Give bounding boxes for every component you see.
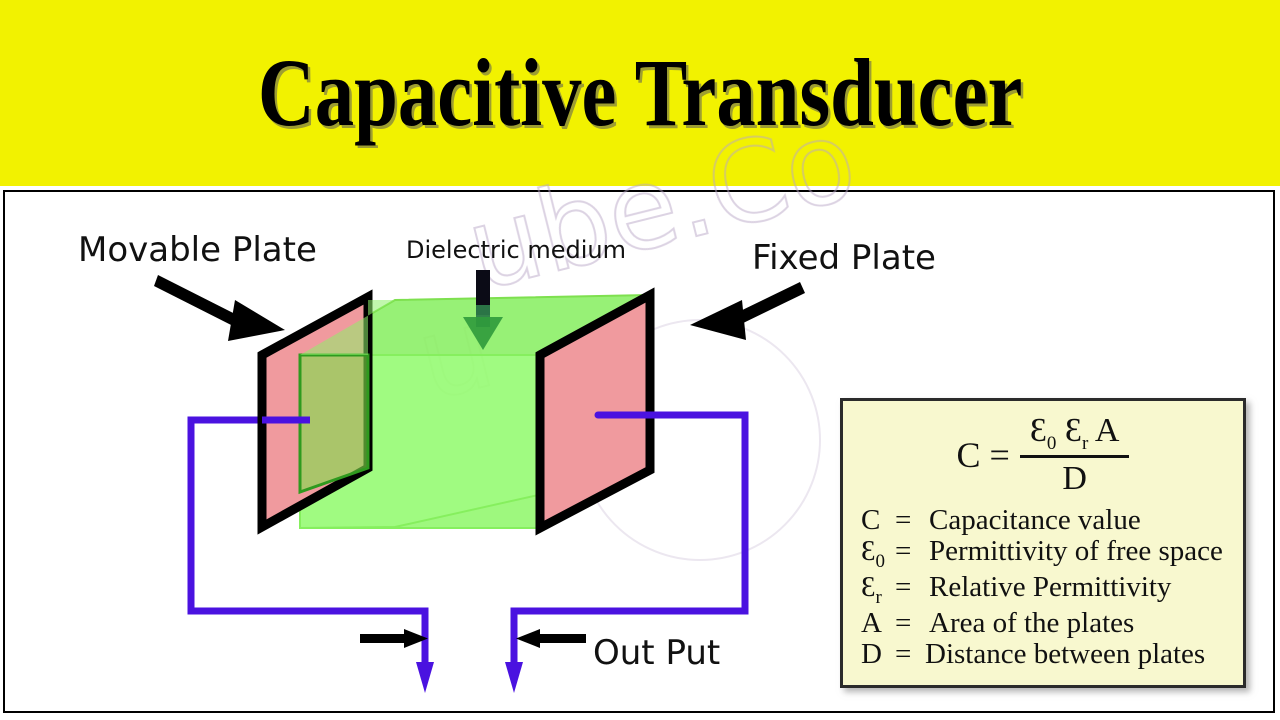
equation-lhs: C = [957, 434, 1010, 476]
legend-symbol: Ɛr [861, 572, 895, 608]
legend-row: C=Capacitance value [861, 505, 1243, 536]
legend-symbol-subscript: r [876, 587, 882, 608]
epsilon-r-subscript: r [1082, 432, 1088, 453]
label-output: Out Put [593, 636, 720, 670]
capacitance-equation: C = Ɛ0 Ɛr A D [843, 401, 1243, 501]
legend-text: Area of the plates [921, 608, 1134, 639]
equation-numerator: Ɛ0 Ɛr A [1020, 414, 1130, 459]
epsilon-zero-symbol: Ɛ [1030, 412, 1047, 449]
epsilon-zero-subscript: 0 [1047, 432, 1057, 453]
legend-text: Relative Permittivity [921, 572, 1171, 603]
legend-row: A=Area of the plates [861, 608, 1243, 639]
equation-denominator: D [1062, 458, 1087, 496]
legend-symbol: Ɛ0 [861, 536, 895, 572]
formula-legend: C=Capacitance valueƐ0=Permittivity of fr… [843, 501, 1243, 670]
legend-equals: = [895, 639, 921, 670]
label-dielectric-medium: Dielectric medium [406, 238, 626, 262]
equation-fraction: Ɛ0 Ɛr A D [1020, 414, 1130, 497]
legend-text: Capacitance value [921, 505, 1141, 536]
legend-row: D=Distance between plates [861, 639, 1243, 670]
legend-text: Distance between plates [921, 639, 1205, 670]
formula-box: C = Ɛ0 Ɛr A D C=Capacitance valueƐ0=Perm… [840, 398, 1246, 688]
page-title: Capacitive Transducer [258, 45, 1023, 141]
slide-root: Capacitive Transducer ube.Co u [0, 0, 1280, 720]
legend-equals: = [895, 536, 921, 567]
legend-symbol: C [861, 505, 895, 536]
legend-symbol: A [861, 608, 895, 639]
legend-symbol-subscript: 0 [876, 551, 886, 572]
legend-row: Ɛr=Relative Permittivity [861, 572, 1243, 608]
epsilon-r-symbol: Ɛ [1065, 412, 1082, 449]
label-fixed-plate: Fixed Plate [752, 241, 936, 275]
legend-equals: = [895, 608, 921, 639]
area-symbol: A [1095, 412, 1120, 449]
legend-text: Permittivity of free space [921, 536, 1223, 567]
legend-equals: = [895, 505, 921, 536]
legend-equals: = [895, 572, 921, 603]
title-banner: Capacitive Transducer [0, 0, 1280, 186]
legend-symbol: D [861, 639, 895, 670]
legend-row: Ɛ0=Permittivity of free space [861, 536, 1243, 572]
label-movable-plate: Movable Plate [78, 233, 317, 267]
